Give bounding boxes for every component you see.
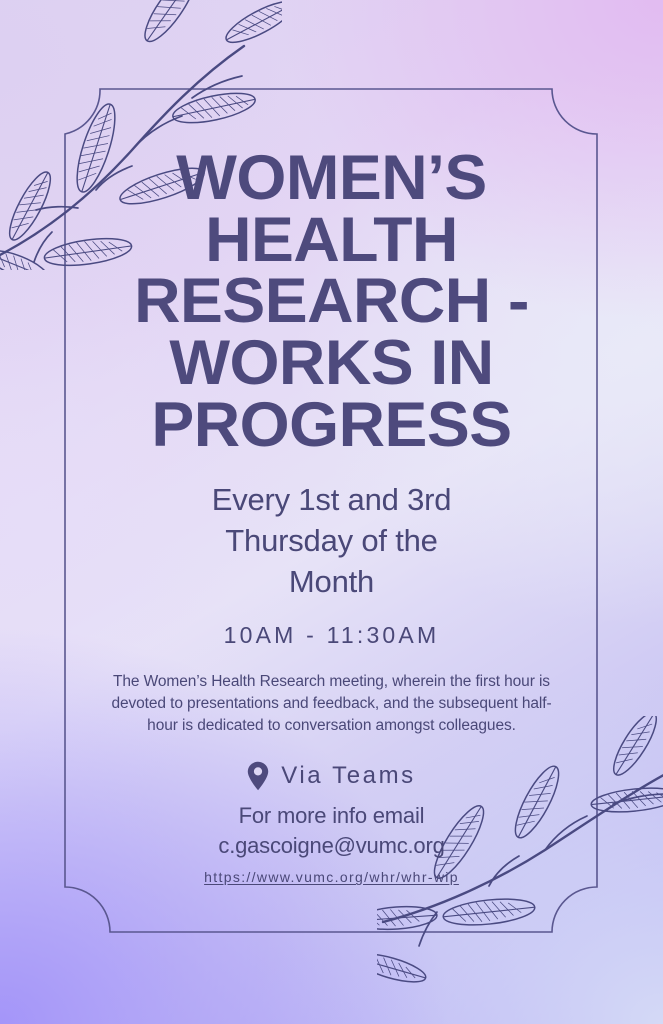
schedule-line-3: Month — [289, 564, 374, 599]
poster-canvas: WOMEN’S HEALTH RESEARCH - WORKS IN PROGR… — [0, 0, 663, 1024]
title-line-5: PROGRESS — [151, 390, 511, 460]
website-url-link[interactable]: https://www.vumc.org/whr/whr-wip — [0, 860, 663, 885]
venue-label: Via Teams — [281, 762, 416, 790]
contact-email: c.gascoigne@vumc.org — [218, 833, 444, 858]
title-line-3: RESEARCH - — [134, 266, 529, 336]
contact-text: For more info email c.gascoigne@vumc.org — [0, 791, 663, 860]
title-line-4: WORKS IN — [169, 328, 493, 398]
time-range: 10AM - 11:30AM — [0, 602, 663, 649]
contact-line-1: For more info email — [239, 803, 425, 828]
schedule-line-1: Every 1st and 3rd — [212, 482, 452, 517]
schedule-line-2: Thursday of the — [225, 523, 437, 558]
location-pin-icon — [247, 761, 269, 791]
poster-content: WOMEN’S HEALTH RESEARCH - WORKS IN PROGR… — [0, 0, 663, 885]
page-title: WOMEN’S HEALTH RESEARCH - WORKS IN PROGR… — [0, 0, 663, 457]
schedule-text: Every 1st and 3rd Thursday of the Month — [0, 457, 663, 603]
venue-row: Via Teams — [0, 737, 663, 791]
title-line-2: HEALTH — [205, 205, 458, 275]
description-text: The Women’s Health Research meeting, whe… — [102, 649, 562, 737]
title-line-1: WOMEN’S — [176, 143, 487, 213]
